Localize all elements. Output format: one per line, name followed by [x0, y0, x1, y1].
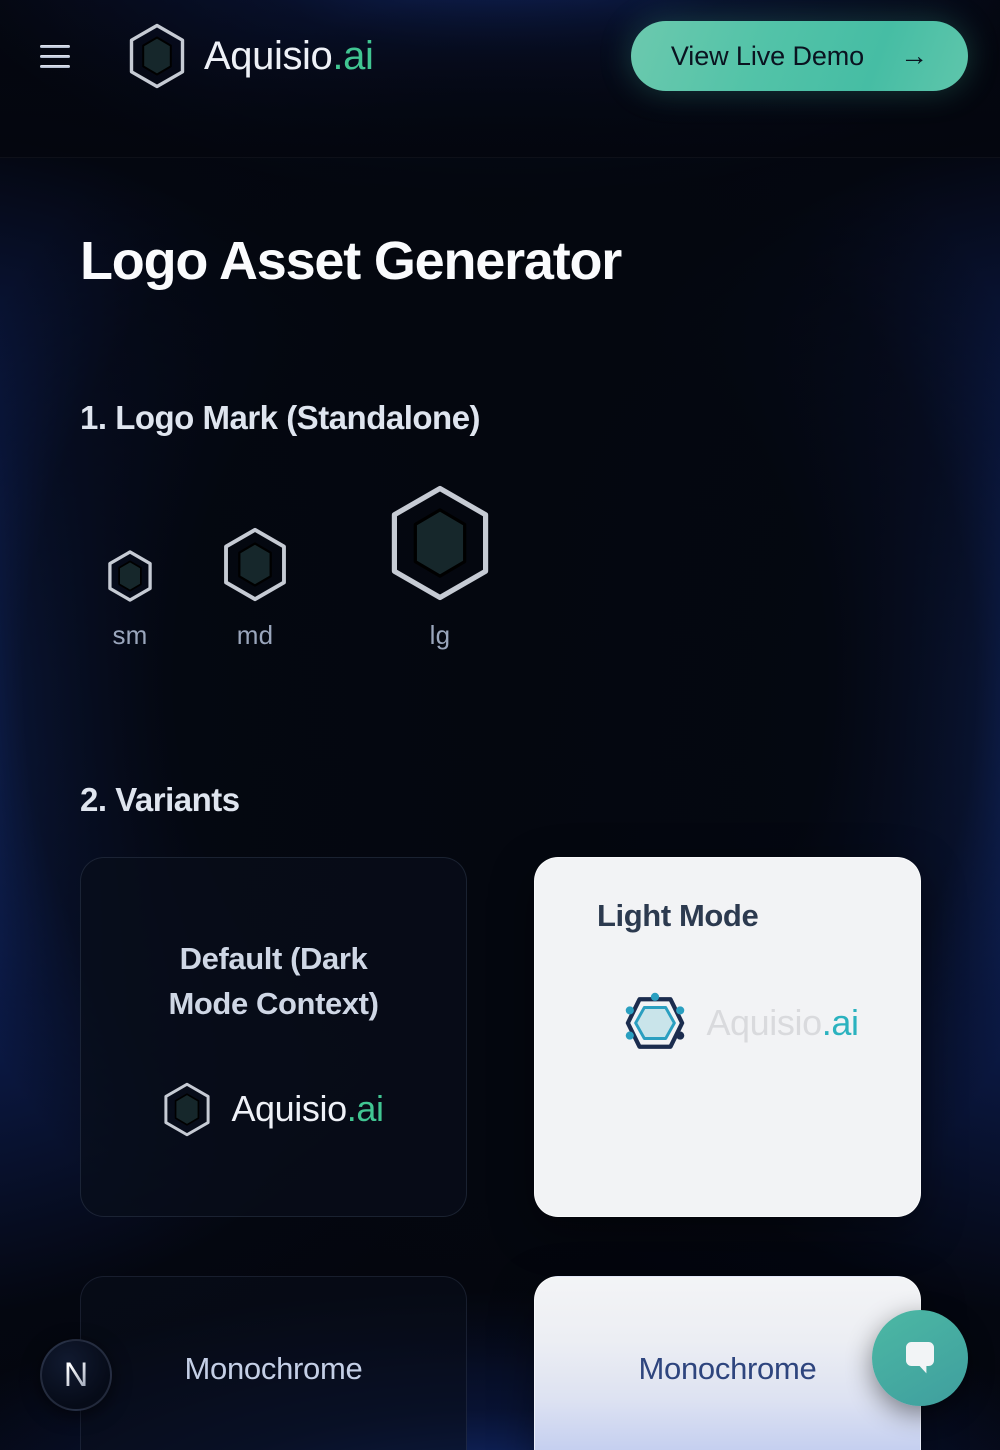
brand-wordmark: Aquisio.ai [204, 34, 373, 79]
logo-tld-text: .ai [347, 1088, 384, 1129]
variant-card-title: Monochrome [639, 1351, 817, 1415]
logo-mark-size-label: sm [112, 620, 147, 651]
hexagon-logo-icon [388, 484, 492, 602]
hamburger-bar [40, 45, 70, 48]
logo-wordmark-dark: Aquisio.ai [231, 1088, 383, 1130]
logo-wordmark-light: Aquisio.ai [706, 1002, 858, 1044]
monochrome-card-grid: Monochrome Monochrome [80, 1276, 1000, 1450]
variant-card-monochrome-light[interactable]: Monochrome [534, 1276, 921, 1450]
logo-mark-size-label: md [237, 620, 274, 651]
chat-widget-button[interactable] [872, 1310, 968, 1406]
logo-lockup-dark: Aquisio.ai [163, 1082, 383, 1137]
hamburger-bar [40, 55, 70, 58]
hexagon-logo-icon [128, 23, 186, 89]
section-title-logo-mark: 1. Logo Mark (Standalone) [80, 399, 1000, 437]
nextjs-dev-indicator-badge[interactable]: N [40, 1339, 112, 1411]
main-content: Logo Asset Generator 1. Logo Mark (Stand… [0, 230, 1000, 1450]
hexagon-logo-icon [163, 1082, 211, 1137]
variant-card-title: Monochrome [185, 1351, 363, 1415]
variant-card-monochrome-dark[interactable]: Monochrome [80, 1276, 467, 1450]
brand-tld-text: .ai [332, 34, 373, 78]
section-title-variants: 2. Variants [80, 781, 1000, 819]
hamburger-menu-icon[interactable] [32, 34, 78, 78]
brand-name-text: Aquisio [204, 34, 332, 78]
variant-card-light-mode[interactable]: Light Mode [534, 857, 921, 1217]
logo-mark-size-sm[interactable]: sm [80, 550, 180, 651]
variant-card-title: Default (Dark Mode Context) [149, 937, 399, 1025]
variant-card-grid: Default (Dark Mode Context) Aquisio.ai L… [80, 857, 1000, 1217]
hamburger-bar [40, 65, 70, 68]
hexagon-logo-icon [222, 527, 288, 602]
top-navbar: Aquisio.ai View Live Demo → [0, 0, 1000, 158]
hexagon-logo-icon [624, 992, 686, 1054]
nextjs-badge-label: N [64, 1358, 89, 1392]
chat-bubble-icon [898, 1336, 942, 1380]
view-live-demo-button[interactable]: View Live Demo → [631, 21, 968, 91]
logo-lockup-light: Aquisio.ai [624, 992, 858, 1054]
logo-mark-size-label: lg [430, 620, 451, 651]
arrow-right-icon: → [900, 42, 928, 70]
variant-card-title: Light Mode [597, 898, 758, 934]
logo-mark-size-row: sm md lg [80, 471, 1000, 651]
brand-logo-lockup[interactable]: Aquisio.ai [128, 23, 373, 89]
page-title: Logo Asset Generator [80, 230, 1000, 292]
logo-name-text: Aquisio [706, 1002, 821, 1043]
logo-tld-text: .ai [822, 1002, 859, 1043]
view-live-demo-label: View Live Demo [671, 41, 864, 72]
variant-card-default-dark[interactable]: Default (Dark Mode Context) Aquisio.ai [80, 857, 467, 1217]
logo-mark-size-md[interactable]: md [180, 527, 330, 651]
logo-name-text: Aquisio [231, 1088, 346, 1129]
logo-mark-size-lg[interactable]: lg [330, 484, 550, 651]
hexagon-logo-icon [107, 550, 153, 602]
